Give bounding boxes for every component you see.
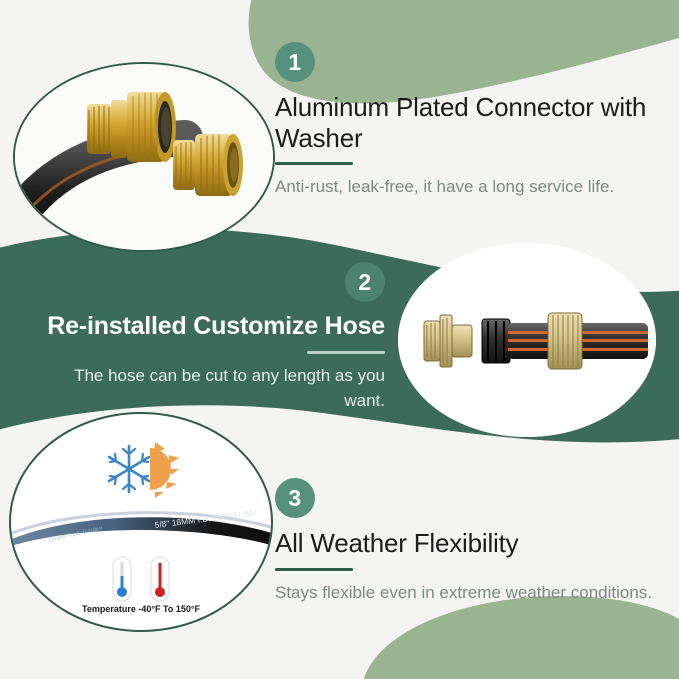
- cold-thermometer-icon: [109, 556, 135, 602]
- hose-ferrule: [482, 319, 510, 363]
- sun-half: [150, 442, 179, 498]
- feature-photo-3: 5/8" 18MM I.D. 150PSI WP Giraffe Tools G…: [9, 412, 273, 632]
- feature-photo-1: [13, 62, 275, 252]
- brass-connector-illustration: [15, 64, 275, 252]
- feature-number-badge-1: 1: [275, 42, 315, 82]
- feature-block-2: 2 Re-installed Customize Hose The hose c…: [30, 262, 385, 414]
- feature-block-3: 3 All Weather Flexibility Stays flexible…: [275, 478, 667, 605]
- brass-collar: [548, 313, 582, 369]
- hose-coupling-illustration: [398, 243, 656, 437]
- feature-description-1: Anti-rust, leak-free, it have a long ser…: [275, 174, 667, 200]
- feature-title-3: All Weather Flexibility: [275, 528, 667, 559]
- feature-description-2: The hose can be cut to any length as you…: [30, 363, 385, 414]
- hot-thermometer-icon: [147, 556, 173, 602]
- feature-divider-3: [275, 568, 353, 571]
- snowflake-sun-icon: [103, 440, 179, 498]
- feature-divider-2: [307, 351, 385, 354]
- feature-photo-2: [398, 243, 656, 437]
- feature-description-3: Stays flexible even in extreme weather c…: [275, 580, 667, 606]
- hose-band-illustration: 5/8" 18MM I.D. 150PSI WP Giraffe Tools G…: [9, 502, 273, 548]
- feature-divider-1: [275, 162, 353, 165]
- feature-title-1: Aluminum Plated Connector with Washer: [275, 92, 667, 153]
- male-fitting: [173, 134, 243, 196]
- feature-number-badge-2: 2: [345, 262, 385, 302]
- thermometer-group: [109, 556, 173, 602]
- feature-block-1: 1 Aluminum Plated Connector with Washer …: [275, 42, 667, 200]
- feature-number-badge-3: 3: [275, 478, 315, 518]
- infographic-canvas: 5/8" 18MM I.D. 150PSI WP Giraffe Tools G…: [0, 0, 679, 679]
- feature-title-2: Re-installed Customize Hose: [30, 312, 385, 342]
- temperature-range-label: Temperature -40°F To 150°F: [82, 604, 200, 614]
